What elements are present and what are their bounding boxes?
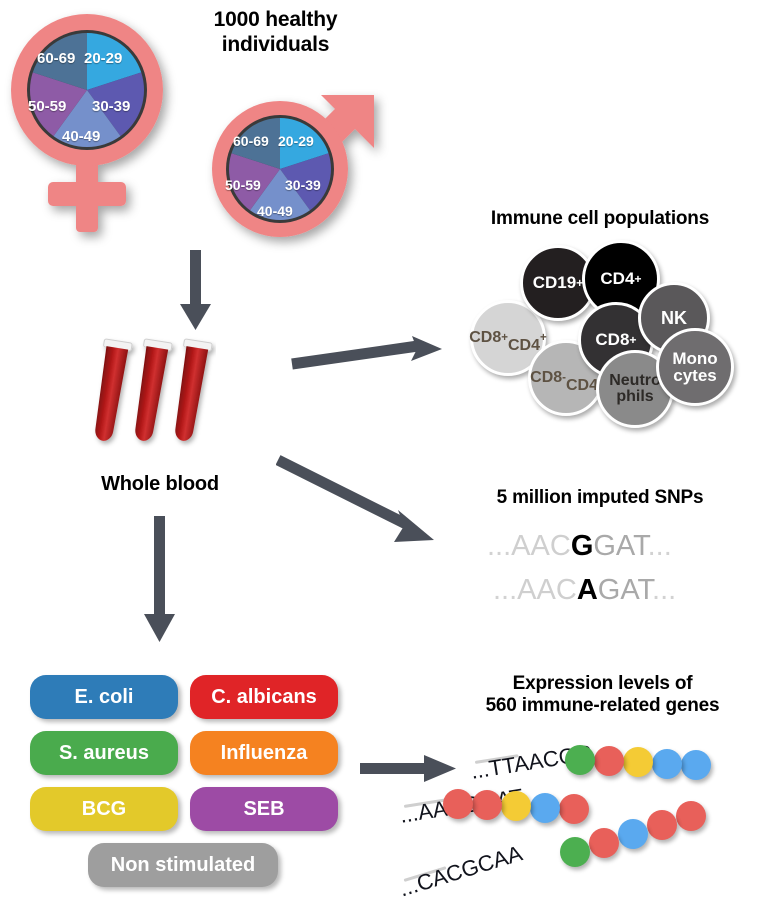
gene-bead-blue xyxy=(618,819,648,849)
gene-bead-green xyxy=(560,837,590,867)
gene-bead-red xyxy=(443,789,473,819)
snp-sequence-row: ...AACGGAT... xyxy=(487,530,672,563)
gene-bead-red xyxy=(676,801,706,831)
arrow-blood-to-stimulations xyxy=(142,516,178,644)
gene-bead-red xyxy=(594,746,624,776)
snp-right-bases: GAT xyxy=(593,530,647,562)
snp-prefix-dots: ... xyxy=(487,530,511,562)
gene-bead-green xyxy=(565,745,595,775)
gene-bead-red xyxy=(559,794,589,824)
snp-suffix-dots: ... xyxy=(648,530,672,562)
gene-bead-yellow xyxy=(623,747,653,777)
gene-bead-red xyxy=(472,790,502,820)
study-design-figure: 1000 healthy individuals xyxy=(0,0,771,922)
snp-suffix-dots: ... xyxy=(652,574,676,606)
snp-right-bases: GAT xyxy=(598,574,652,606)
stimulation-seb[interactable]: SEB xyxy=(190,787,338,831)
gene-expression-strands: ...TTAACGG...AACGGAT...CACGCAA xyxy=(455,745,771,915)
blood-tubes-icon xyxy=(86,334,216,457)
gene-bead-yellow xyxy=(501,791,531,821)
gene-bead-red xyxy=(589,828,619,858)
page-title-cohort: 1000 healthy individuals xyxy=(168,8,383,58)
immune-cell-mono-cytes[interactable]: Monocytes xyxy=(656,328,734,406)
stimulation-bcg[interactable]: BCG xyxy=(30,787,178,831)
gene-sequence-text: ...CACGCAA xyxy=(396,840,525,902)
gene-bead-blue xyxy=(652,749,682,779)
snp-left-bases: AAC xyxy=(511,530,571,562)
whole-blood-label: Whole blood xyxy=(60,473,260,497)
female-gender-icon: 20-29 30-39 40-49 50-59 60-69 xyxy=(8,10,193,245)
gene-bead-blue xyxy=(530,793,560,823)
stimulation-e-coli[interactable]: E. coli xyxy=(30,675,178,719)
snp-variant-base: A xyxy=(577,574,598,606)
arrow-blood-to-snps xyxy=(276,452,444,548)
stimulation-s-aureus[interactable]: S. aureus xyxy=(30,731,178,775)
snp-prefix-dots: ... xyxy=(493,574,517,606)
snp-sequence-row: ...AACAGAT... xyxy=(493,574,676,607)
snp-variant-base: G xyxy=(571,530,594,562)
stimulation-c-albicans[interactable]: C. albicans xyxy=(190,675,338,719)
section-title-snps: 5 million imputed SNPs xyxy=(450,487,750,509)
male-gender-icon: 20-29 30-39 40-49 50-59 60-69 xyxy=(200,85,400,255)
arrow-stimulations-to-expression xyxy=(360,752,458,788)
section-title-immune-cells: Immune cell populations xyxy=(440,208,760,230)
section-title-expression: Expression levels of 560 immune-related … xyxy=(440,673,765,718)
snp-left-bases: AAC xyxy=(517,574,577,606)
arrow-cohort-to-blood xyxy=(178,250,214,332)
gene-bead-red xyxy=(647,810,677,840)
arrow-blood-to-immune xyxy=(290,336,448,376)
stimulation-non-stimulated[interactable]: Non stimulated xyxy=(88,843,278,887)
immune-cell-population-cluster: CD8+CD4+CD19+CD4+CD8-CD4-CD8+NKNeutrophi… xyxy=(470,240,760,420)
stimulation-influenza[interactable]: Influenza xyxy=(190,731,338,775)
gene-bead-blue xyxy=(681,750,711,780)
snp-sequence-illustration: ...AACGGAT... ...AACAGAT... xyxy=(487,530,747,620)
